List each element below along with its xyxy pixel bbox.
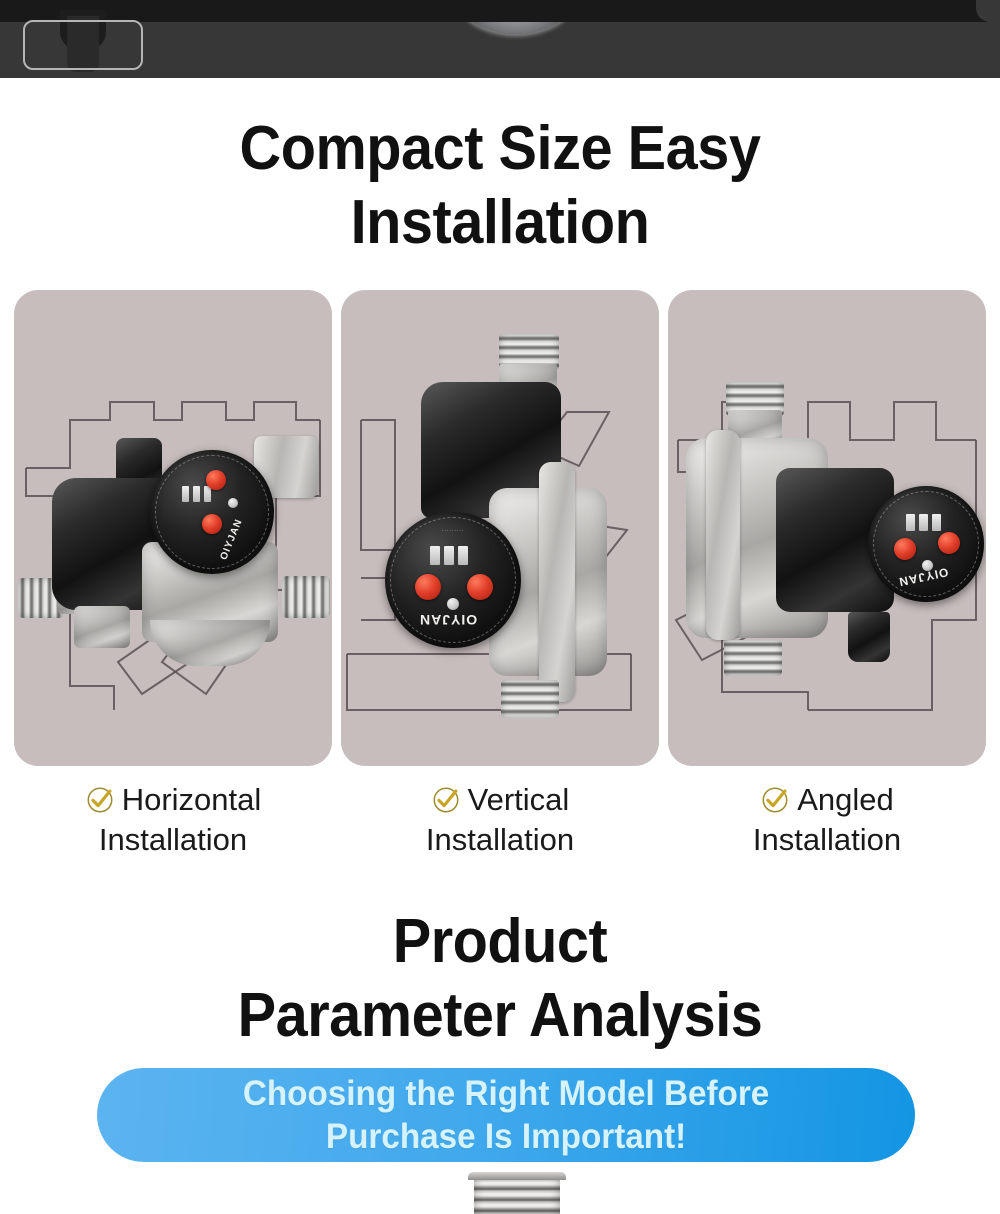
top-photo-band xyxy=(0,0,1000,78)
title-line-2: Installation xyxy=(35,186,965,260)
section-title-parameters: Product Parameter Analysis xyxy=(35,905,965,1053)
mode-button-right[interactable] xyxy=(938,532,960,554)
control-dial-vertical[interactable]: OIYJAN ········· xyxy=(385,512,521,648)
banner-line-1: Choosing the Right Model Before xyxy=(243,1074,769,1113)
circled-check-icon xyxy=(431,785,461,815)
product-detail-page: Compact Size Easy Installation xyxy=(0,0,1000,1214)
choose-model-banner[interactable]: Choosing the Right Model Before Purchase… xyxy=(97,1068,915,1162)
caption-label-1: Horizontal xyxy=(122,780,262,820)
status-led-icon xyxy=(228,498,238,508)
pipe-thread-right xyxy=(282,576,330,618)
circled-check-icon xyxy=(85,785,115,815)
pipe-thread-bottom xyxy=(724,640,782,676)
pipe-thread-bottom xyxy=(501,680,559,718)
installation-card-angled[interactable]: OIYJAN xyxy=(668,290,986,766)
caption-label-1: Angled xyxy=(797,780,894,820)
banner-line-2: Purchase Is Important! xyxy=(326,1117,686,1156)
installation-captions-row: Horizontal Installation Vertical Install… xyxy=(0,780,1000,880)
caption-line-1: Horizontal xyxy=(14,780,332,820)
band-dark-strip xyxy=(0,0,1000,22)
speed-indicator-bars-icon xyxy=(430,546,468,565)
title-line-1: Compact Size Easy xyxy=(35,112,965,186)
caption-line-2: Installation xyxy=(341,820,659,860)
caption-label-1: Vertical xyxy=(468,780,570,820)
terminal-box xyxy=(848,612,890,662)
section-title-installation: Compact Size Easy Installation xyxy=(35,112,965,260)
brand-label: OIYJAN xyxy=(419,612,477,628)
inlet-flange xyxy=(74,606,130,648)
mounting-bracket xyxy=(539,462,575,702)
control-dial-angled[interactable]: OIYJAN xyxy=(868,486,984,602)
mode-button-left[interactable] xyxy=(894,538,916,560)
caption-vertical: Vertical Installation xyxy=(341,780,659,880)
title-line-2: Parameter Analysis xyxy=(35,979,965,1053)
speed-indicator-bars-icon xyxy=(906,514,941,531)
installation-cards-row: OIYJAN xyxy=(0,290,1000,766)
mode-button-top[interactable] xyxy=(206,470,226,490)
installation-card-horizontal[interactable]: OIYJAN xyxy=(14,290,332,766)
rounded-outline-badge-icon xyxy=(23,20,143,70)
caption-horizontal: Horizontal Installation xyxy=(14,780,332,880)
circled-check-icon xyxy=(760,785,790,815)
caption-angled: Angled Installation xyxy=(668,780,986,880)
mode-button-right[interactable] xyxy=(467,574,493,600)
dial-annotation-top: ········· xyxy=(411,528,495,534)
mode-button-bottom[interactable] xyxy=(202,514,222,534)
status-led-icon xyxy=(447,598,459,610)
mounting-bracket xyxy=(706,430,740,640)
installation-card-vertical[interactable]: OIYJAN ········· xyxy=(341,290,659,766)
caption-line-2: Installation xyxy=(668,820,986,860)
mode-button-left[interactable] xyxy=(415,574,441,600)
caption-line-1: Angled xyxy=(668,780,986,820)
title-line-1: Product xyxy=(35,905,965,979)
caption-line-1: Vertical xyxy=(341,780,659,820)
banner-text: Choosing the Right Model Before Purchase… xyxy=(243,1072,769,1158)
caption-line-2: Installation xyxy=(14,820,332,860)
threaded-pipe-preview xyxy=(474,1172,560,1214)
speed-indicator-bars-icon xyxy=(182,486,211,502)
control-dial-horizontal[interactable]: OIYJAN xyxy=(150,450,274,574)
